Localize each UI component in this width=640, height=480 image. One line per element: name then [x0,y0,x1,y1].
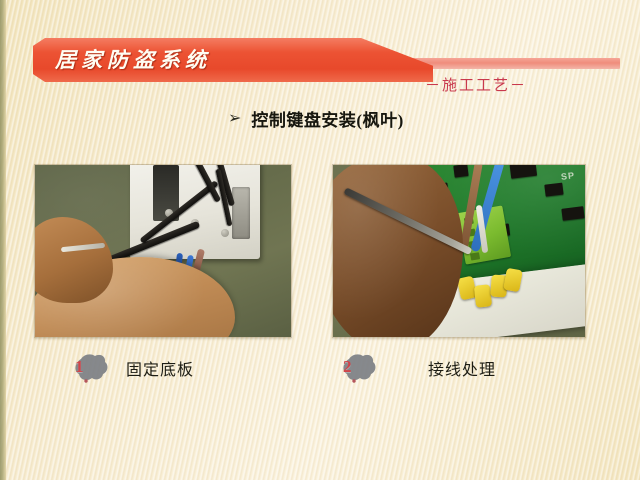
pcb-silkscreen-label: SP [560,170,575,182]
photo-fix-base-plate [34,164,292,338]
slide-title: 居家防盗系统 [55,44,395,74]
pcb-chip [453,164,468,178]
photo-wiring-treatment: SP [332,164,586,338]
section-heading: ➢ 控制键盘安装(枫叶) [228,106,404,131]
arrow-bullet-icon: ➢ [228,111,241,127]
caption-number: 2 [343,357,352,377]
section-heading-text: 控制键盘安装(枫叶) [251,106,403,131]
slide-canvas: 居家防盗系统 －施工工艺－ ➢ 控制键盘安装(枫叶) [0,0,640,480]
header-banner: 居家防盗系统 －施工工艺－ [0,30,640,86]
splatter-badge-icon: 2 [340,352,380,384]
slide-subtitle: －施工工艺－ [396,74,556,95]
plate-screw [221,229,229,237]
photo-left-canvas [35,165,291,337]
pcb-chip [510,164,538,179]
caption-label: 接线处理 [428,356,496,380]
pcb-chip [544,183,563,197]
base-plate-switch [232,187,250,239]
photo-right-canvas: SP [333,165,585,337]
caption-label: 固定底板 [126,356,194,380]
caption-number: 1 [75,357,84,377]
caption-fix-base-plate: 1 固定底板 [72,352,194,384]
terminal-hole [470,252,480,260]
caption-wiring-treatment: 2 接线处理 [340,352,496,384]
yellow-component [474,284,492,308]
pcb-chip [561,206,584,221]
splatter-badge-icon: 1 [72,352,112,384]
